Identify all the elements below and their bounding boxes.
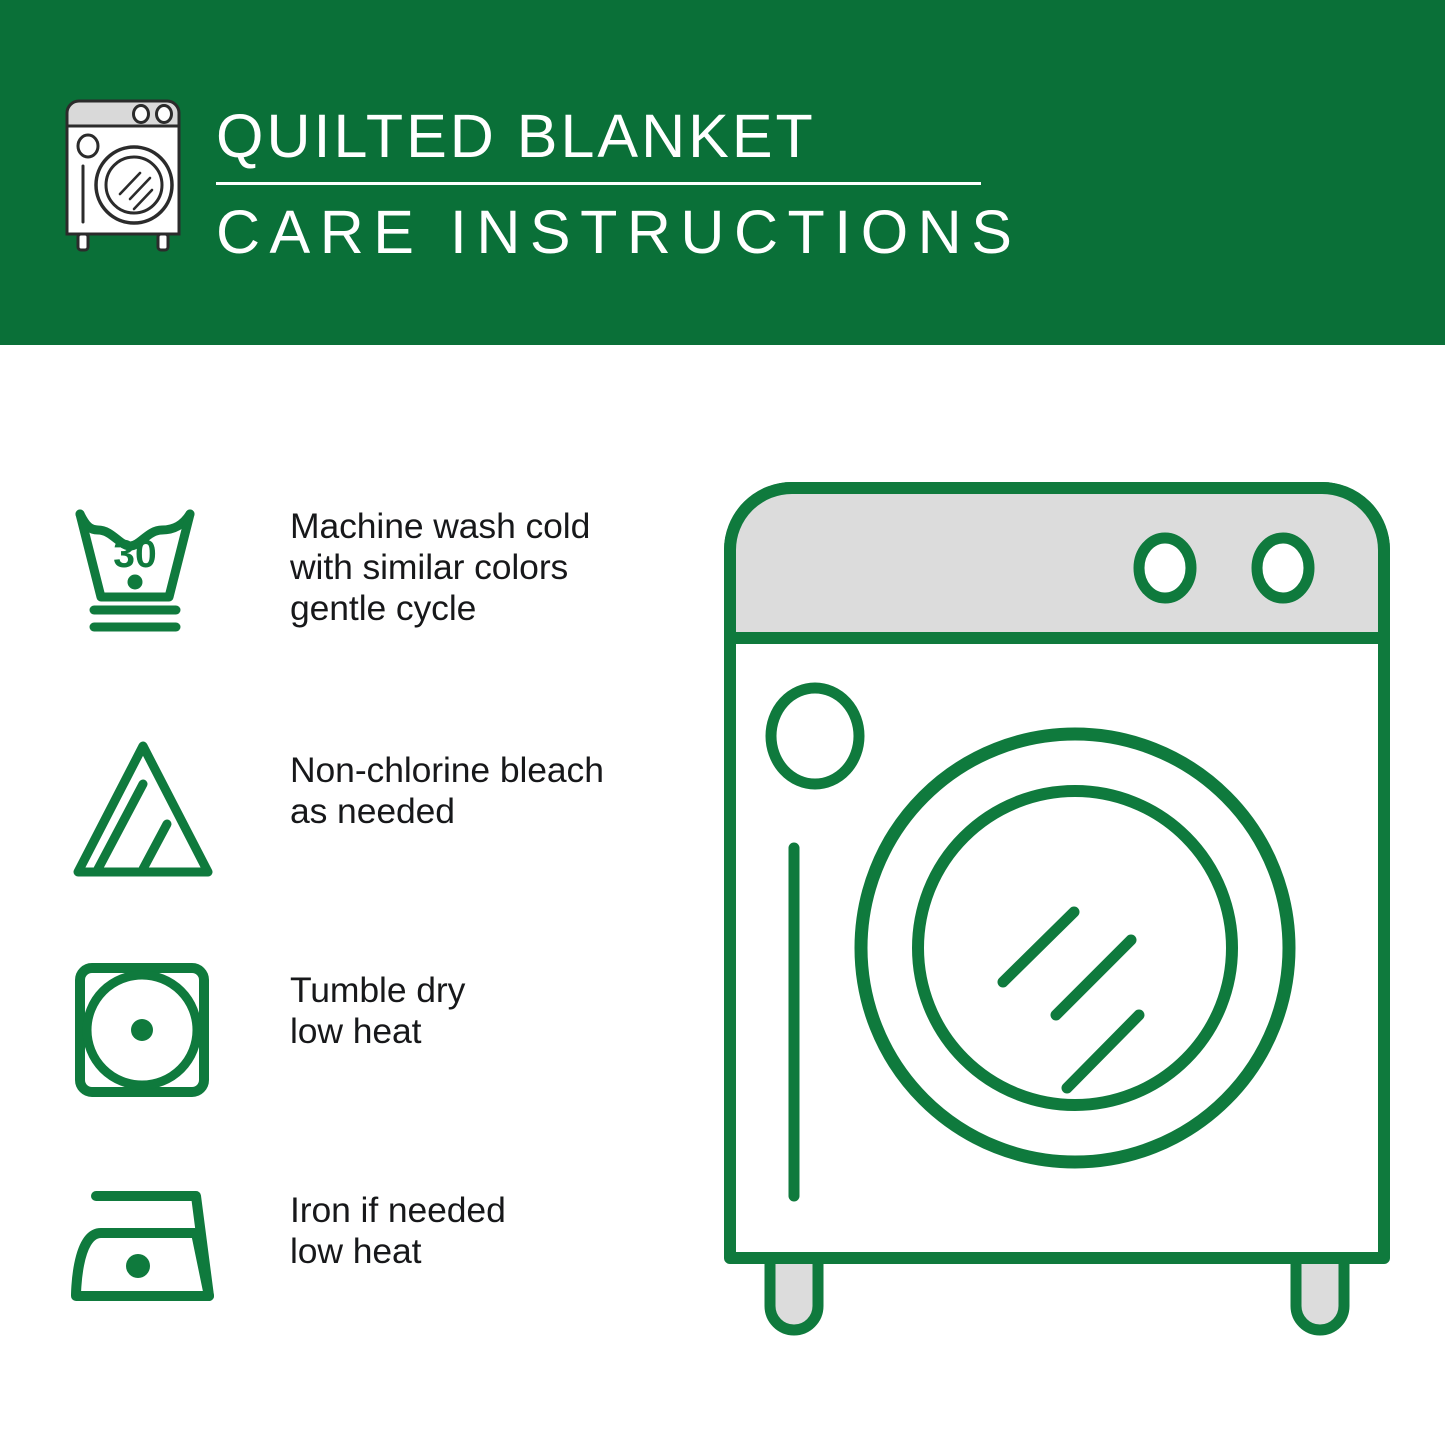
care-text-tumble-dry: Tumble dry low heat	[290, 970, 465, 1052]
wash-dot	[128, 575, 143, 590]
bleach-triangle-non-chlorine-icon	[68, 734, 228, 894]
wash-temperature-label: 30	[113, 533, 156, 576]
washing-machine-icon	[62, 96, 192, 256]
tumble-dry-low-heat-icon	[68, 956, 228, 1116]
care-line: low heat	[290, 1231, 506, 1272]
care-row-iron: Iron if needed low heat	[60, 1148, 700, 1368]
door-latch	[771, 688, 859, 784]
care-instruction-list: 30 Machine wash cold with similar colors…	[60, 488, 700, 1368]
header-band: QUILTED BLANKET CARE INSTRUCTIONS	[0, 0, 1445, 345]
page-title-secondary: CARE INSTRUCTIONS	[216, 197, 1021, 267]
iron-heat-dot	[126, 1254, 150, 1278]
page-title-primary: QUILTED BLANKET	[216, 100, 1021, 172]
care-text-machine-wash: Machine wash cold with similar colors ge…	[290, 506, 590, 629]
dry-heat-dot	[131, 1019, 153, 1041]
care-text-iron: Iron if needed low heat	[290, 1190, 506, 1272]
knob-left[interactable]	[1139, 538, 1191, 598]
care-line: Tumble dry	[290, 970, 465, 1011]
care-line: Iron if needed	[290, 1190, 506, 1231]
iron-low-heat-icon	[68, 1178, 228, 1338]
care-row-bleach: Non-chlorine bleach as needed	[60, 708, 700, 928]
care-line: gentle cycle	[290, 588, 590, 629]
knob-right[interactable]	[1257, 538, 1309, 598]
care-row-machine-wash: 30 Machine wash cold with similar colors…	[60, 488, 700, 708]
title-divider	[216, 182, 981, 185]
wash-tub-30-gentle-icon: 30	[68, 492, 228, 652]
care-line: low heat	[290, 1011, 465, 1052]
header-content: QUILTED BLANKET CARE INSTRUCTIONS	[62, 96, 1021, 267]
washing-machine-illustration	[722, 478, 1392, 1378]
care-line: as needed	[290, 791, 604, 832]
care-row-tumble-dry: Tumble dry low heat	[60, 928, 700, 1148]
header-title-group: QUILTED BLANKET CARE INSTRUCTIONS	[216, 96, 1021, 267]
care-text-bleach: Non-chlorine bleach as needed	[290, 750, 604, 832]
care-line: Non-chlorine bleach	[290, 750, 604, 791]
care-instructions-graphic: QUILTED BLANKET CARE INSTRUCTIONS 30	[0, 0, 1445, 1445]
care-line: with similar colors	[290, 547, 590, 588]
drum-inner-ring	[918, 791, 1232, 1105]
care-line: Machine wash cold	[290, 506, 590, 547]
